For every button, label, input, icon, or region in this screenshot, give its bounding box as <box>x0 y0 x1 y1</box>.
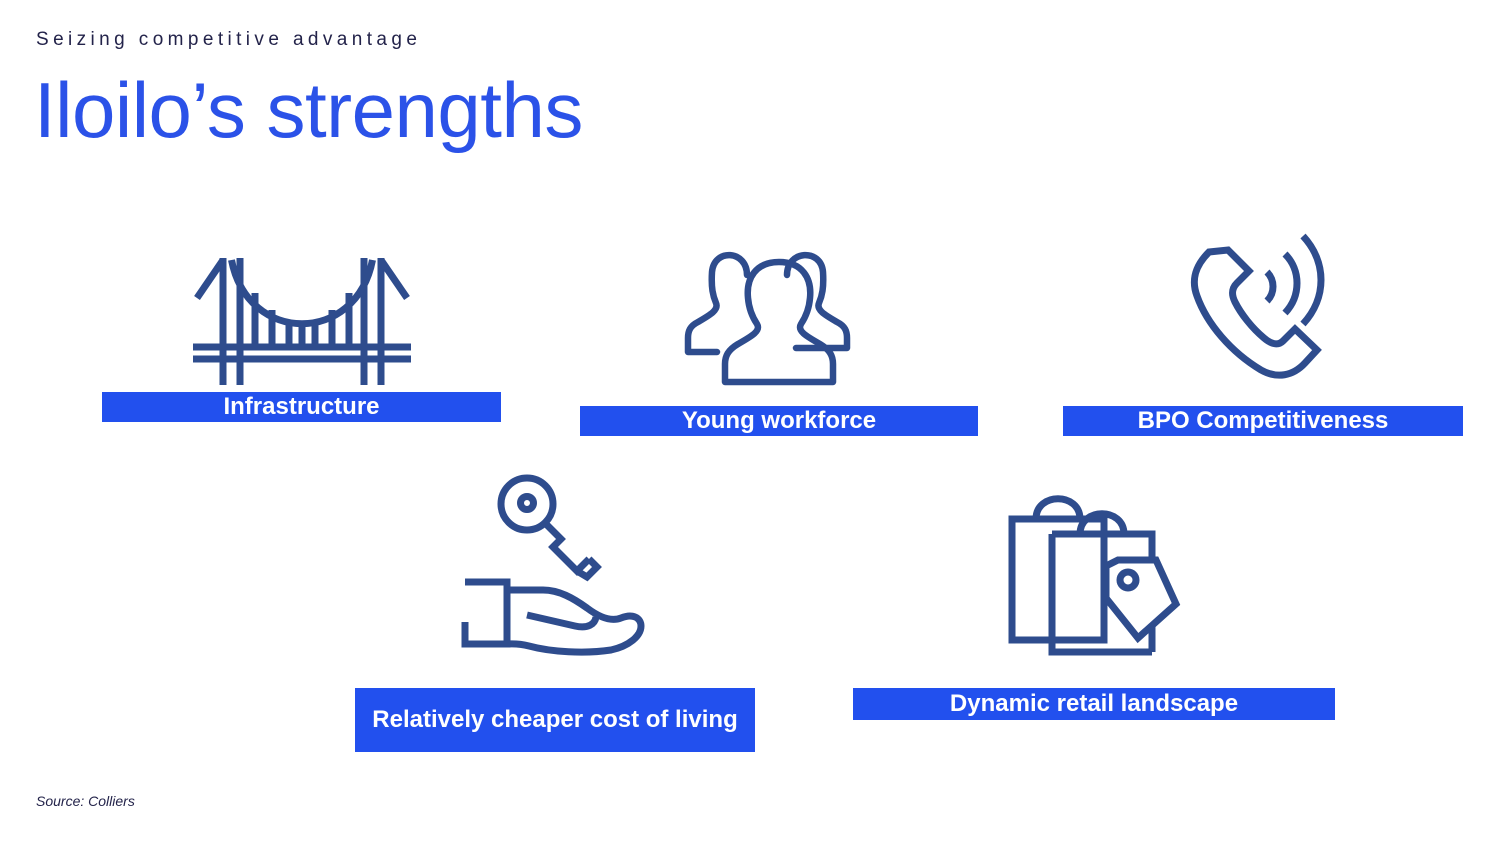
icon-container <box>193 238 411 388</box>
strength-card-infrastructure[interactable]: Infrastructure <box>102 238 501 422</box>
strength-label-bpo-competitiveness: BPO Competitiveness <box>1063 406 1463 436</box>
slide-canvas: Seizing competitive advantage Iloilo’s s… <box>0 0 1507 850</box>
page-title: Iloilo’s strengths <box>34 62 583 158</box>
source-note: Source: Colliers <box>36 793 135 809</box>
strength-label-infrastructure: Infrastructure <box>102 392 501 422</box>
strength-card-bpo-competitiveness[interactable]: BPO Competitiveness <box>1063 216 1463 436</box>
phone-handset-ringing-icon <box>1179 218 1347 388</box>
key-in-hand-icon <box>455 474 655 654</box>
icon-container <box>684 226 874 388</box>
shopping-bags-tag-icon <box>1004 472 1184 658</box>
suspension-bridge-icon <box>193 248 411 388</box>
strength-label-young-workforce: Young workforce <box>580 406 978 436</box>
strength-label-cost-of-living: Relatively cheaper cost of living <box>355 688 755 752</box>
strength-label-retail-landscape: Dynamic retail landscape <box>853 688 1335 720</box>
icon-container <box>455 472 655 654</box>
strength-card-retail-landscape[interactable]: Dynamic retail landscape <box>853 472 1335 720</box>
slide-eyebrow: Seizing competitive advantage <box>36 29 421 51</box>
strength-card-cost-of-living[interactable]: Relatively cheaper cost of living <box>355 472 755 752</box>
strength-card-young-workforce[interactable]: Young workforce <box>580 226 978 436</box>
icon-container <box>1004 472 1184 658</box>
people-group-icon <box>684 230 874 388</box>
icon-container <box>1179 216 1347 388</box>
